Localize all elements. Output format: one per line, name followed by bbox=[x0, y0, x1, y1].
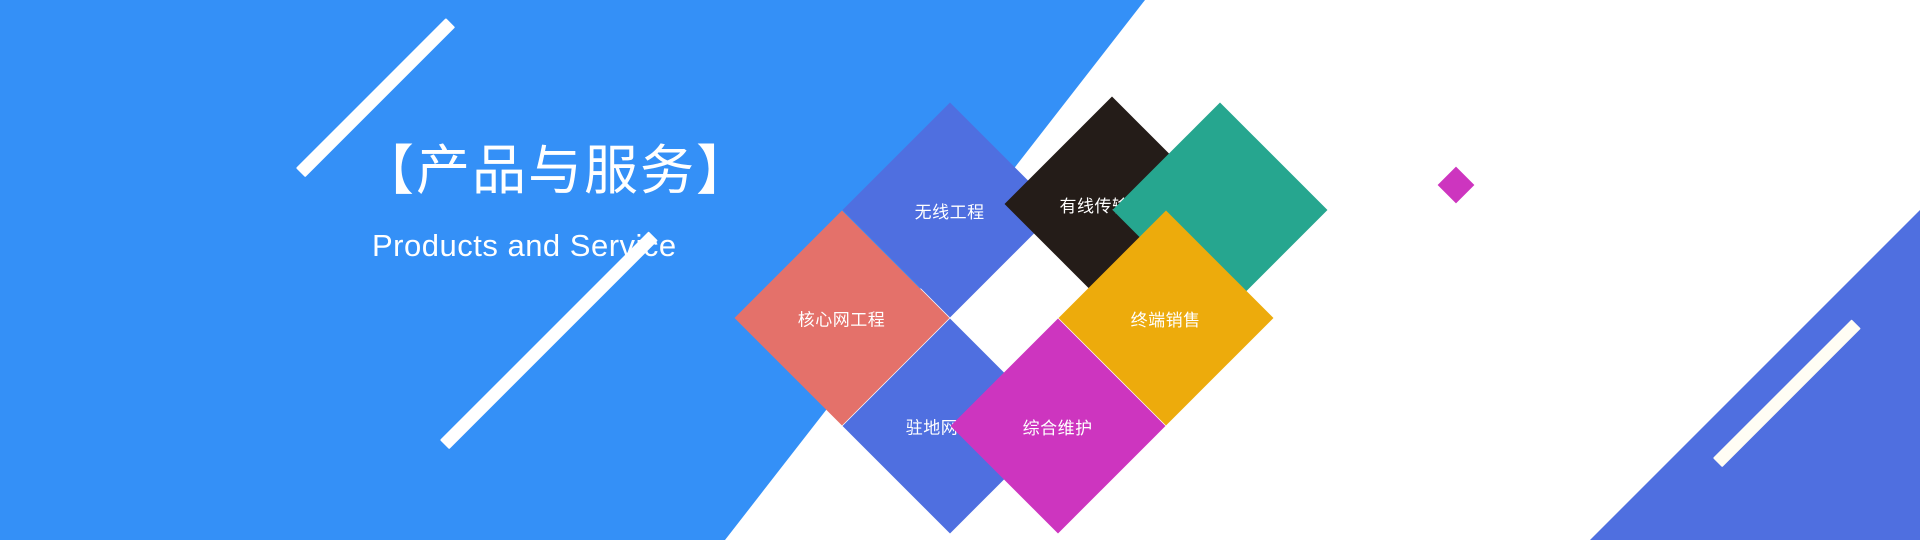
mini-diamond-icon bbox=[1438, 167, 1475, 204]
tile-terminal-label: 终端销售 bbox=[1131, 306, 1201, 331]
products-and-services-banner: 【产品与服务】 Products and Service 无线工程 核心网工程 … bbox=[0, 0, 1920, 540]
tile-wireless-label: 无线工程 bbox=[915, 198, 985, 223]
corner-wedge-decoration bbox=[1590, 210, 1920, 540]
tile-core-label: 核心网工程 bbox=[798, 306, 886, 331]
tile-maintain-label: 综合维护 bbox=[1023, 414, 1093, 439]
service-diamond-grid: 无线工程 核心网工程 有线传输工程 终端销售 驻地网工程 综合维护 bbox=[742, 104, 1322, 440]
